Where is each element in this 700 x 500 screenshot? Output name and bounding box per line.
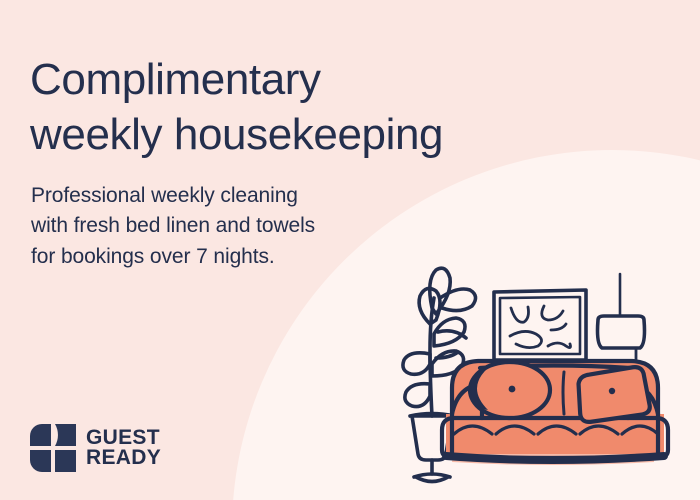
subtitle-text: Professional weekly cleaning with fresh … [31, 181, 451, 272]
guestready-quadrant-mark-icon [30, 424, 76, 472]
guestready-logo: GUEST READY [30, 424, 161, 472]
pendant-lamp-icon [598, 274, 645, 364]
sofa-icon [442, 361, 668, 465]
living-room-illustration [396, 258, 700, 500]
framed-artwork-icon [494, 290, 586, 360]
logo-wordmark: GUEST READY [86, 428, 161, 468]
promo-banner: Complimentary weekly housekeeping Profes… [0, 0, 700, 500]
round-cushion-icon [470, 362, 550, 418]
page-title: Complimentary weekly housekeeping [30, 53, 630, 162]
square-pillow-icon [575, 366, 650, 423]
